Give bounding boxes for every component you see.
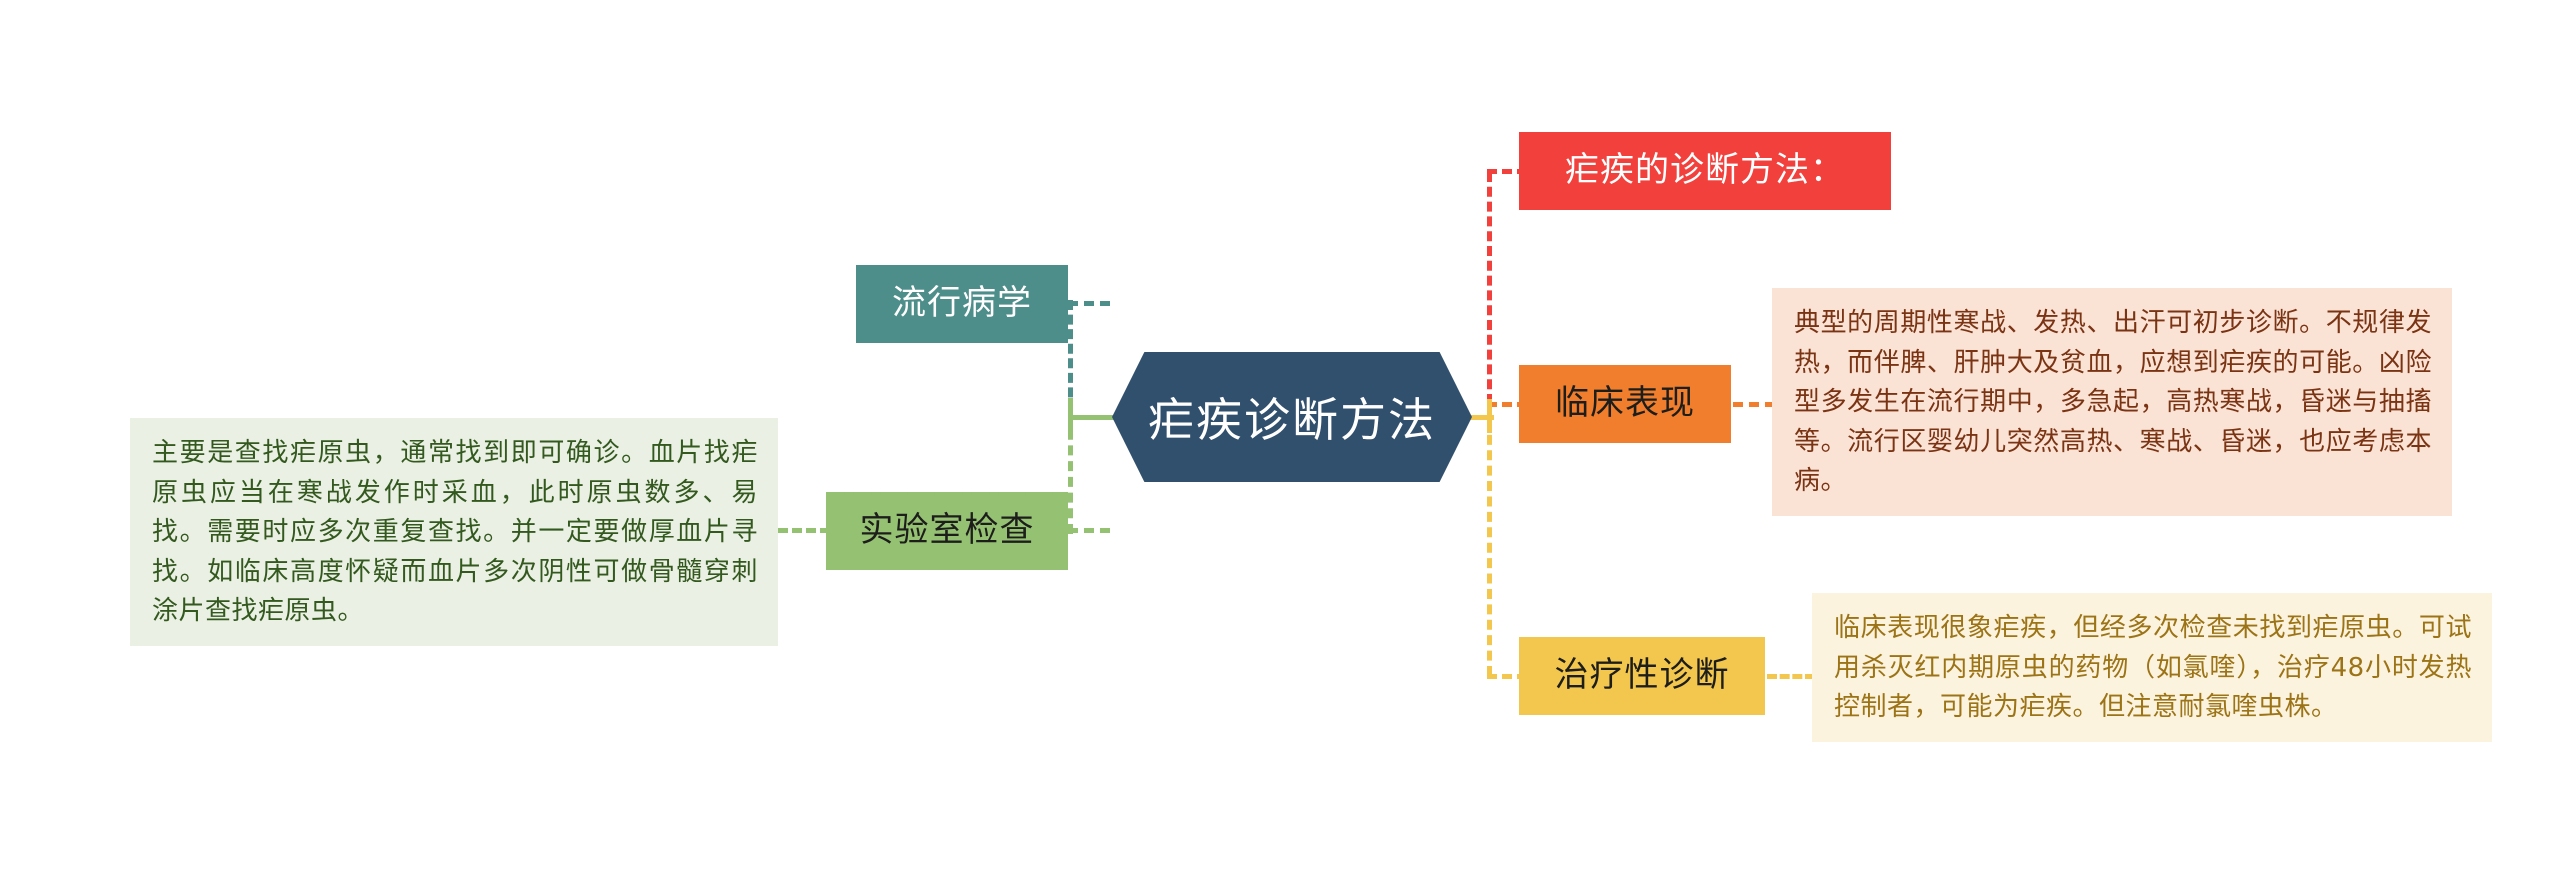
detail-text-lab: 主要是查找疟原虫，通常找到即可确诊。血片找疟原虫应当在寒战发作时采血，此时原虫数…: [130, 418, 778, 646]
connector-lab-to-detail: [778, 528, 830, 533]
branch-node-lab[interactable]: 实验室检查: [826, 492, 1068, 570]
detail-text-therapeutic: 临床表现很象疟疾，但经多次检查未找到疟原虫。可试用杀灭红内期原虫的药物（如氯喹）…: [1812, 593, 2492, 742]
connector-center-to-left-spine: [1068, 415, 1116, 420]
connector-stub-lab: [1068, 528, 1110, 533]
connector-left-spine-lower: [1068, 414, 1073, 534]
branch-node-epidemiology[interactable]: 流行病学: [856, 265, 1068, 343]
connector-therapeutic-to-detail: [1767, 674, 1815, 679]
detail-text-clinical: 典型的周期性寒战、发热、出汗可初步诊断。不规律发热，而伴脾、肝肿大及贫血，应想到…: [1772, 288, 2452, 516]
connector-right-spine-lower: [1487, 404, 1492, 676]
branch-node-title[interactable]: 疟疾的诊断方法：: [1519, 132, 1891, 210]
central-node[interactable]: 疟疾诊断方法: [1112, 352, 1472, 482]
connector-stub-epidemiology: [1068, 301, 1110, 306]
connector-right-spine-upper: [1487, 172, 1492, 404]
branch-node-therapeutic[interactable]: 治疗性诊断: [1519, 637, 1765, 715]
mindmap-canvas: 疟疾诊断方法 疟疾的诊断方法： 流行病学 实验室检查 临床表现 治疗性诊断 主要…: [0, 0, 2560, 882]
branch-node-clinical[interactable]: 临床表现: [1519, 365, 1731, 443]
connector-left-spine-upper: [1068, 300, 1073, 412]
connector-clinical-to-detail: [1733, 402, 1775, 407]
central-node-label: 疟疾诊断方法: [1112, 352, 1472, 482]
